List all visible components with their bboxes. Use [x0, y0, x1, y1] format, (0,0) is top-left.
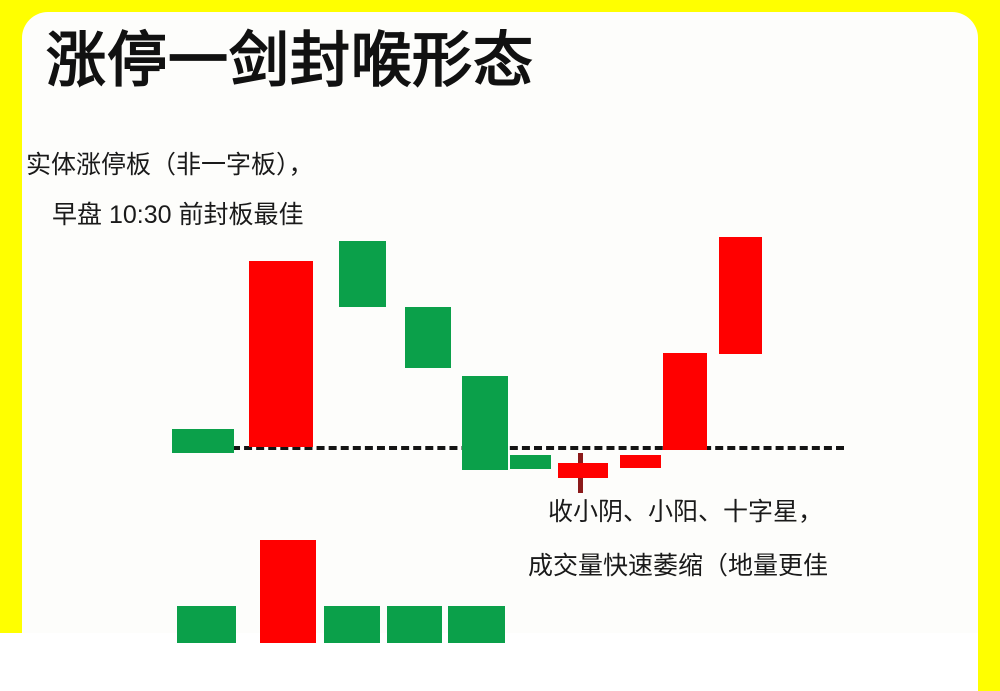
candle-body: [663, 353, 707, 450]
candle-body: [510, 455, 551, 469]
note-bottom-line1: 收小阴、小阳、十字星，: [548, 495, 823, 530]
volume-bar: [387, 606, 442, 643]
candle-body: [339, 241, 386, 307]
candle-body: [249, 261, 313, 447]
page-title: 涨停一剑封喉形态: [46, 26, 534, 95]
candle-body: [462, 376, 508, 470]
volume-bar: [324, 606, 380, 643]
candlestick-chart: [0, 0, 978, 691]
candle-body: [172, 429, 234, 453]
candle-body: [558, 463, 608, 478]
volume-bar: [448, 606, 505, 643]
poster-root: 涨停一剑封喉形态 实体涨停板（非一字板）， 早盘 10:30 前封板最佳 收小阴…: [0, 0, 1000, 691]
note-top-line2: 早盘 10:30 前封板最佳: [52, 198, 303, 233]
candle-body: [405, 307, 451, 368]
reference-line: [232, 446, 844, 450]
note-top-line1: 实体涨停板（非一字板），: [26, 148, 314, 183]
note-bottom-line2: 成交量快速萎缩（地量更佳: [528, 549, 828, 584]
candle-body: [620, 455, 661, 468]
volume-bar: [177, 606, 236, 643]
candle-body: [719, 237, 762, 354]
volume-bar: [260, 540, 316, 643]
